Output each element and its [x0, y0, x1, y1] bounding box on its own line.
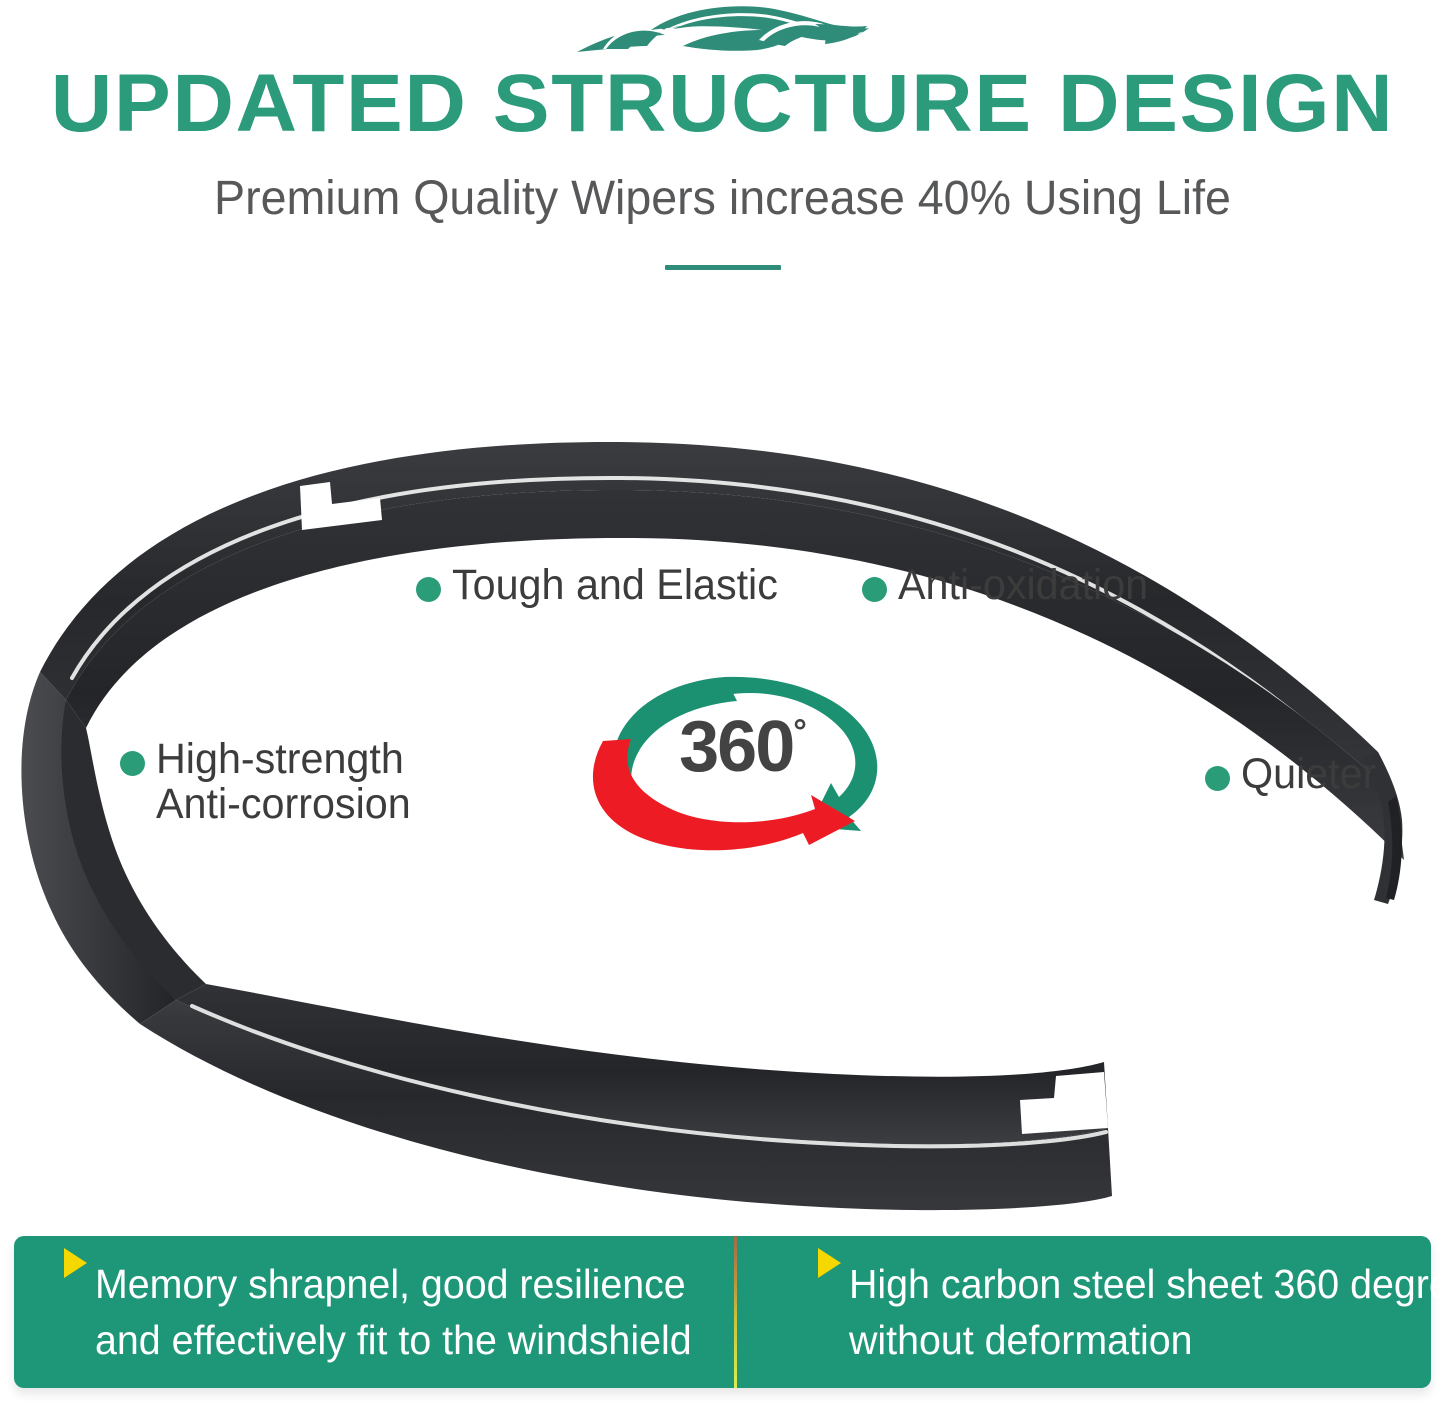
feature-label-anti-oxidation: Anti-oxidation	[862, 563, 1159, 608]
banner-item-text: Memory shrapnel, good resilience and eff…	[95, 1256, 692, 1368]
page-subtitle: Premium Quality Wipers increase 40% Usin…	[22, 168, 1424, 230]
banner-item-line2: and effectively fit to the windshield	[95, 1312, 692, 1368]
degree-symbol: °	[793, 713, 807, 751]
feature-label-text: High-strength Anti-corrosion	[156, 737, 411, 827]
feature-label-high-strength-anti-corrosion: High-strength Anti-corrosion	[120, 737, 421, 827]
triangle-marker-icon	[818, 1248, 841, 1278]
banner-divider	[734, 1236, 737, 1388]
car-silhouette-icon	[573, 2, 873, 58]
product-infographic: UPDATED STRUCTURE DESIGN Premium Quality…	[0, 0, 1445, 1421]
360-badge-value: 360°	[573, 711, 913, 783]
page-title: UPDATED STRUCTURE DESIGN	[0, 58, 1445, 150]
banner-item-high-carbon-steel: High carbon steel sheet 360 degrees with…	[740, 1236, 1445, 1388]
title-divider	[665, 265, 781, 270]
feature-banner: Memory shrapnel, good resilience and eff…	[14, 1236, 1431, 1388]
360-number: 360	[679, 707, 793, 787]
feature-label-text: Anti-oxidation	[898, 563, 1148, 608]
triangle-marker-icon	[64, 1248, 87, 1278]
banner-item-text: High carbon steel sheet 360 degrees with…	[849, 1256, 1445, 1368]
bullet-dot-icon	[1205, 766, 1230, 791]
feature-label-line2: Anti-corrosion	[156, 782, 411, 827]
bullet-dot-icon	[416, 577, 441, 602]
feature-label-quieter: Quieter	[1205, 752, 1382, 797]
feature-label-text: Tough and Elastic	[452, 563, 778, 608]
360-degree-badge: 360°	[573, 655, 913, 855]
bullet-dot-icon	[120, 751, 145, 776]
banner-item-memory-shrapnel: Memory shrapnel, good resilience and eff…	[14, 1236, 740, 1388]
feature-label-line1: High-strength	[156, 735, 404, 783]
banner-item-line1: High carbon steel sheet 360 degrees	[849, 1261, 1445, 1307]
brand-logo	[0, 2, 1445, 60]
banner-item-line1: Memory shrapnel, good resilience	[95, 1261, 686, 1307]
feature-label-text: Quieter	[1241, 752, 1376, 797]
banner-item-line2: without deformation	[849, 1312, 1445, 1368]
bullet-dot-icon	[862, 577, 887, 602]
feature-label-tough-and-elastic: Tough and Elastic	[416, 563, 791, 608]
strip-notch-lower-b	[1022, 982, 1108, 1044]
